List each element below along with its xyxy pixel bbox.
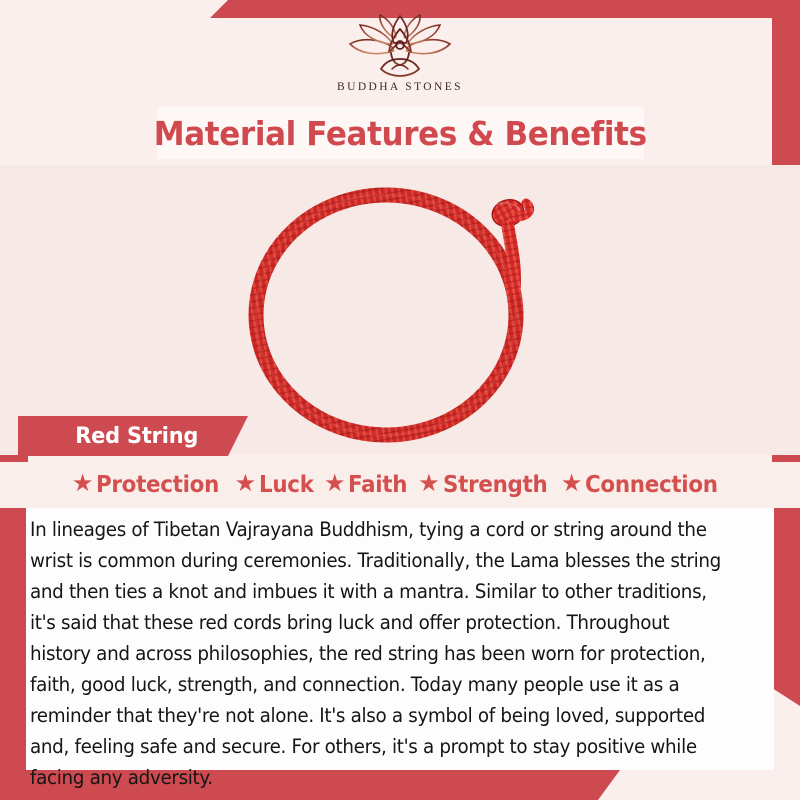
star-icon: ★	[324, 472, 346, 496]
star-icon: ★	[561, 472, 583, 496]
title-banner: Material Features & Benefits	[157, 107, 644, 159]
benefit-item-faith: ★ Faith	[324, 472, 412, 498]
benefit-item-strength: ★ Strength	[418, 472, 555, 498]
benefit-label: Strength	[443, 472, 547, 498]
description-text: In lineages of Tibetan Vajrayana Buddhis…	[30, 514, 725, 793]
benefit-label: Faith	[348, 472, 407, 498]
description-panel: In lineages of Tibetan Vajrayana Buddhis…	[26, 508, 774, 770]
brand-logo: BUDDHA STONES	[0, 14, 800, 93]
benefit-label: Luck	[259, 472, 314, 498]
benefit-item-luck: ★ Luck	[235, 472, 318, 498]
benefit-item-protection: ★ Protection	[72, 472, 229, 498]
star-icon: ★	[235, 472, 257, 496]
benefit-item-connection: ★ Connection	[561, 472, 728, 498]
product-image-area	[0, 165, 800, 455]
page-title: Material Features & Benefits	[154, 114, 647, 153]
material-name-label: Red String	[75, 424, 198, 449]
benefit-label: Connection	[585, 472, 718, 498]
material-name-ribbon: Red String	[18, 416, 248, 456]
infographic-poster: BUDDHA STONES Material Features & Benefi…	[0, 0, 800, 800]
brand-wordmark: BUDDHA STONES	[0, 81, 800, 93]
star-icon: ★	[72, 472, 94, 496]
benefits-row: ★ Protection ★ Luck ★ Faith ★ Strength ★…	[0, 462, 800, 508]
benefit-label: Protection	[96, 472, 219, 498]
star-icon: ★	[418, 472, 440, 496]
lotus-meditation-icon	[342, 14, 458, 80]
red-string-bracelet-image	[220, 165, 580, 455]
